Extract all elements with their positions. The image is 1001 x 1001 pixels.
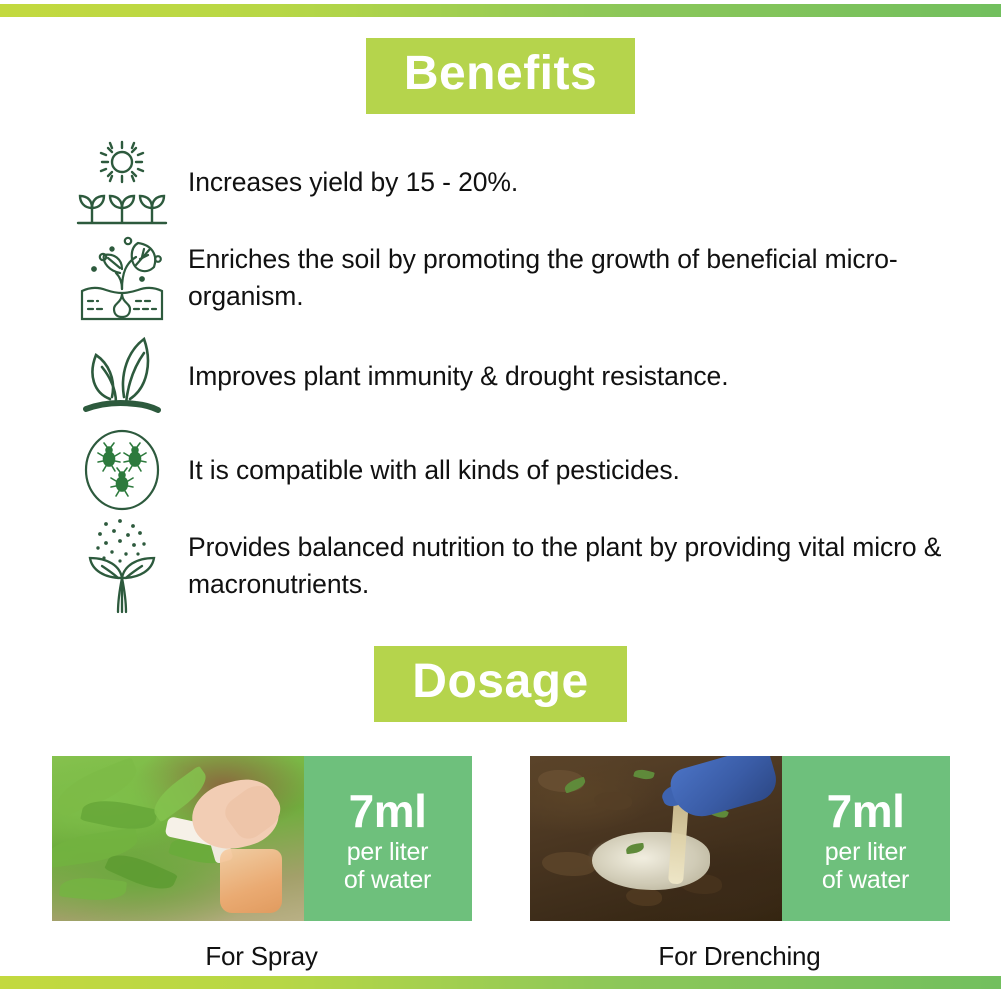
dosage-caption: For Spray bbox=[52, 941, 472, 972]
benefit-text: Increases yield by 15 - 20%. bbox=[170, 164, 518, 201]
benefit-item-yield: Increases yield by 15 - 20%. bbox=[74, 136, 961, 228]
insects-in-circle-icon bbox=[74, 424, 170, 516]
watering-can-on-soil-photo bbox=[530, 756, 782, 921]
dosage-column-drenching: 7ml per liter of water For Drenching bbox=[530, 756, 950, 972]
dosage-card: 7ml per liter of water bbox=[52, 756, 472, 921]
dosage-sub-line2: of water bbox=[344, 866, 431, 894]
dosage-heading-row: Dosage bbox=[0, 646, 1001, 722]
dosage-heading-badge: Dosage bbox=[374, 646, 626, 722]
dosage-sub-line2: of water bbox=[822, 866, 909, 894]
dosage-column-spray: 7ml per liter of water For Spray bbox=[52, 756, 472, 972]
sun-over-seedlings-icon bbox=[74, 136, 170, 228]
dosage-amount-panel: 7ml per liter of water bbox=[304, 756, 472, 921]
benefit-item-soil: Enriches the soil by promoting the growt… bbox=[74, 232, 961, 324]
dosage-sub-line1: per liter bbox=[822, 838, 909, 866]
benefit-text: It is compatible with all kinds of pesti… bbox=[170, 452, 680, 489]
dosage-sub-line1: per liter bbox=[344, 838, 431, 866]
benefit-text: Provides balanced nutrition to the plant… bbox=[170, 529, 961, 602]
dosage-amount: 7ml bbox=[349, 788, 427, 834]
dosage-amount-panel: 7ml per liter of water bbox=[782, 756, 950, 921]
two-leaves-icon bbox=[74, 330, 170, 422]
benefits-heading-badge: Benefits bbox=[366, 38, 635, 114]
dosage-section: Dosage 7ml bbox=[0, 646, 1001, 972]
benefit-item-immunity: Improves plant immunity & drought resist… bbox=[74, 330, 961, 422]
infographic-page: Benefits bbox=[0, 0, 1001, 1001]
benefits-heading-row: Benefits bbox=[0, 38, 1001, 114]
benefit-text: Improves plant immunity & drought resist… bbox=[170, 358, 728, 395]
dosage-amount: 7ml bbox=[827, 788, 905, 834]
sprout-with-nutrients-icon bbox=[74, 520, 170, 612]
hand-spraying-plants-photo bbox=[52, 756, 304, 921]
top-gradient-stripe bbox=[0, 4, 1001, 17]
plant-in-soil-microbes-icon bbox=[74, 232, 170, 324]
benefit-text: Enriches the soil by promoting the growt… bbox=[170, 241, 961, 314]
benefit-item-nutrition: Provides balanced nutrition to the plant… bbox=[74, 520, 961, 612]
dosage-caption: For Drenching bbox=[530, 941, 950, 972]
dosage-cards: 7ml per liter of water For Spray bbox=[0, 756, 1001, 972]
benefits-list: Increases yield by 15 - 20%. bbox=[0, 136, 1001, 612]
benefit-item-pesticide: It is compatible with all kinds of pesti… bbox=[74, 424, 961, 516]
bottom-gradient-stripe bbox=[0, 976, 1001, 989]
dosage-card: 7ml per liter of water bbox=[530, 756, 950, 921]
